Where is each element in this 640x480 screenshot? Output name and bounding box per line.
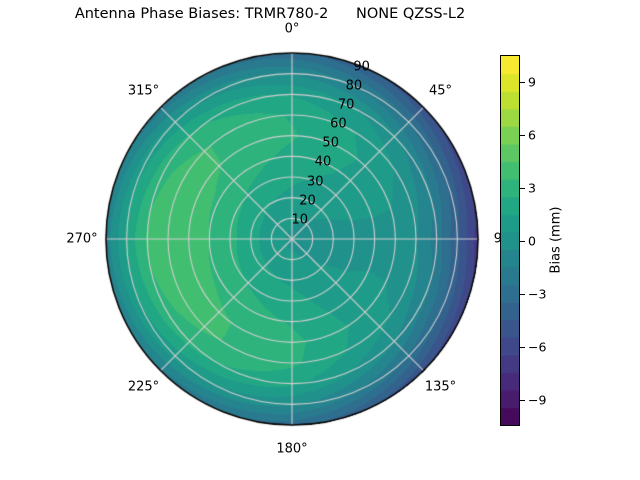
radial-tick-80: 80 [346, 78, 363, 93]
angular-tick-135: 135° [425, 380, 456, 395]
colorbar-tick-label: 9 [528, 74, 536, 89]
colorbar-tick-mark [520, 241, 525, 242]
colorbar-tick-label: −3 [528, 286, 546, 301]
colorbar-tick-label: 0 [528, 233, 536, 248]
colorbar-tick-mark [520, 82, 525, 83]
colorbar-tick-label: 3 [528, 180, 536, 195]
colorbar: −9−6−30369 [500, 55, 520, 426]
radial-tick-20: 20 [299, 193, 316, 208]
radial-tick-70: 70 [338, 97, 355, 112]
angular-tick-0: 0° [285, 22, 300, 37]
colorbar-tick-mark [520, 347, 525, 348]
colorbar-tick-label: 6 [528, 127, 536, 142]
angular-tick-315: 315° [128, 83, 159, 98]
radial-tick-90: 90 [353, 59, 370, 74]
colorbar-tick-mark [520, 400, 525, 401]
angular-tick-45: 45° [429, 83, 452, 98]
colorbar-axis-label: Bias (mm) [549, 207, 564, 274]
figure-canvas: Antenna Phase Biases: TRMR780-2 NONE QZS… [0, 0, 640, 480]
angular-tick-225: 225° [128, 380, 159, 395]
radial-tick-60: 60 [330, 117, 347, 132]
radial-tick-10: 10 [291, 212, 308, 227]
radial-tick-50: 50 [322, 136, 339, 151]
colorbar-tick-mark [520, 135, 525, 136]
colorbar-tick-label: −6 [528, 339, 546, 354]
radial-tick-40: 40 [315, 155, 332, 170]
radial-tick-30: 30 [307, 174, 324, 189]
colorbar-tick-mark [520, 294, 525, 295]
angular-tick-270: 270° [66, 232, 97, 247]
colorbar-tick-mark [520, 188, 525, 189]
colorbar-gradient [500, 55, 520, 426]
angular-tick-180: 180° [276, 442, 307, 457]
colorbar-tick-label: −9 [528, 392, 546, 407]
